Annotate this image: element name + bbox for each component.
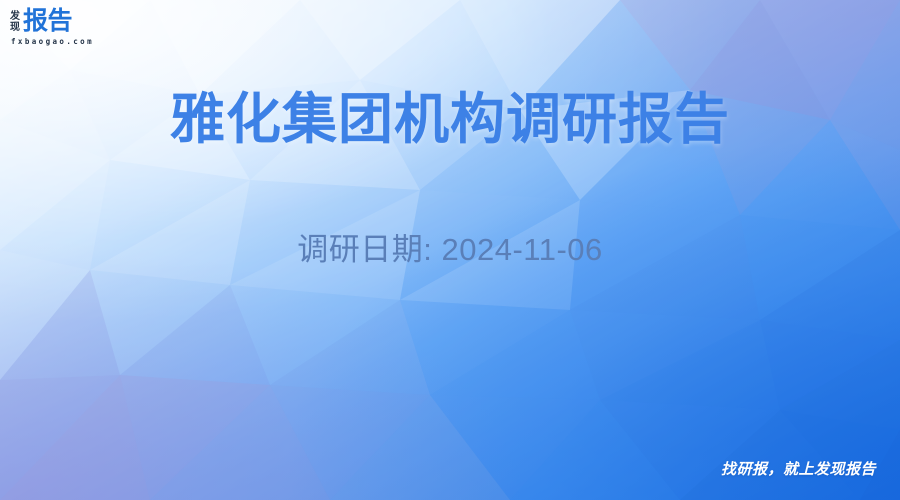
title-block: 雅化集团机构调研报告 <box>0 86 900 152</box>
logo-domain: fxbaogao.com <box>11 37 94 47</box>
logo-stacked-chars: 发 现 <box>10 10 20 33</box>
logo-char-fa: 发 <box>10 11 20 22</box>
logo-char-xian: 现 <box>10 22 20 33</box>
logo-wordmark-row: 发 现 报告 <box>10 8 94 35</box>
report-cover: 发 现 报告 fxbaogao.com 雅化集团机构调研报告 调研日期: 202… <box>0 0 900 500</box>
page-title: 雅化集团机构调研报告 <box>0 86 900 152</box>
brand-slogan: 找研报，就上发现报告 <box>721 460 876 480</box>
survey-date-line: 调研日期: 2024-11-06 <box>0 230 900 270</box>
site-logo[interactable]: 发 现 报告 fxbaogao.com <box>10 8 94 47</box>
logo-wordmark: 报告 <box>23 8 72 35</box>
